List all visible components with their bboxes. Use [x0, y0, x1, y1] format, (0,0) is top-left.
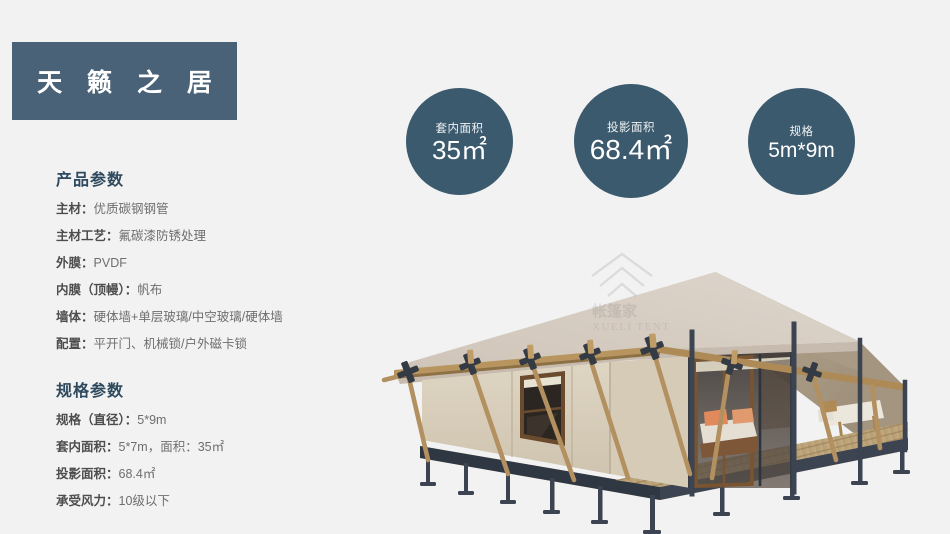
spec-value: 平开门、机械锁/户外磁卡锁: [94, 337, 247, 351]
bedroom-glass-wall: [690, 352, 792, 488]
badge-value: 68.4㎡: [590, 136, 673, 164]
badge-value: 5m*9m: [768, 140, 835, 161]
spec-row: 主材工艺：氟碳漆防锈处理: [56, 229, 386, 243]
spec-row: 外膜：PVDF: [56, 256, 386, 270]
spec-params-heading: 规格参数: [56, 377, 386, 401]
spec-value: 10级以下: [119, 494, 170, 508]
title-banner: 天 籁 之 居: [12, 42, 237, 120]
specification-panel: 产品参数 主材：优质碳钢钢管 主材工艺：氟碳漆防锈处理 外膜：PVDF 内膜（顶…: [56, 166, 386, 521]
spec-label: 内膜（顶幔）：: [56, 283, 137, 297]
badge-caption: 套内面积: [436, 120, 484, 136]
spec-value: 68.4㎡: [119, 467, 156, 481]
badge-projected-area: 投影面积 68.4㎡: [574, 84, 688, 198]
spec-value: PVDF: [94, 256, 127, 270]
spec-row: 投影面积：68.4㎡: [56, 467, 386, 481]
watermark-text-cn: 帐篷家: [592, 302, 637, 320]
product-spec-page: 天 籁 之 居 套内面积 35㎡ 投影面积 68.4㎡ 规格 5m*9m 产品参…: [0, 0, 950, 534]
spec-row: 主材：优质碳钢钢管: [56, 202, 386, 216]
badge-indoor-area: 套内面积 35㎡: [406, 88, 513, 195]
spec-label: 主材工艺：: [56, 229, 119, 243]
badge-caption: 规格: [790, 123, 814, 139]
spec-value: 优质碳钢钢管: [94, 202, 169, 216]
badge-dimensions: 规格 5m*9m: [748, 88, 855, 195]
spec-label: 墙体：: [56, 310, 94, 324]
spec-label: 外膜：: [56, 256, 94, 270]
spec-value: 帆布: [137, 283, 162, 297]
tent-3d-render: 帐篷家 XUELI TENT: [360, 212, 950, 534]
spec-label: 配置：: [56, 337, 94, 351]
spec-label: 承受风力：: [56, 494, 119, 508]
spec-row: 内膜（顶幔）：帆布: [56, 283, 386, 297]
spec-row: 墙体：硬体墙+单层玻璃/中空玻璃/硬体墙: [56, 310, 386, 324]
badge-value: 35㎡: [432, 137, 487, 163]
spec-label: 规格（直径）：: [56, 413, 137, 427]
badge-group: 套内面积 35㎡ 投影面积 68.4㎡ 规格 5m*9m: [406, 84, 916, 204]
spec-label: 投影面积：: [56, 467, 119, 481]
spec-value: 氟碳漆防锈处理: [119, 229, 207, 243]
watermark-text-en: XUELI TENT: [592, 321, 671, 333]
spec-row: 套内面积：5*7m，面积：35㎡: [56, 440, 386, 454]
spec-value: 硬体墙+单层玻璃/中空玻璃/硬体墙: [94, 310, 283, 324]
spec-label: 套内面积：: [56, 440, 119, 454]
page-title: 天 籁 之 居: [28, 63, 221, 99]
spec-value: 5*7m，面积：35㎡: [119, 440, 225, 454]
spec-value: 5*9m: [137, 413, 166, 427]
badge-caption: 投影面积: [607, 119, 655, 135]
spec-label: 主材：: [56, 202, 94, 216]
spec-row: 承受风力：10级以下: [56, 494, 386, 508]
spec-row: 规格（直径）：5*9m: [56, 413, 386, 427]
spec-row: 配置：平开门、机械锁/户外磁卡锁: [56, 337, 386, 351]
product-params-heading: 产品参数: [56, 166, 386, 190]
